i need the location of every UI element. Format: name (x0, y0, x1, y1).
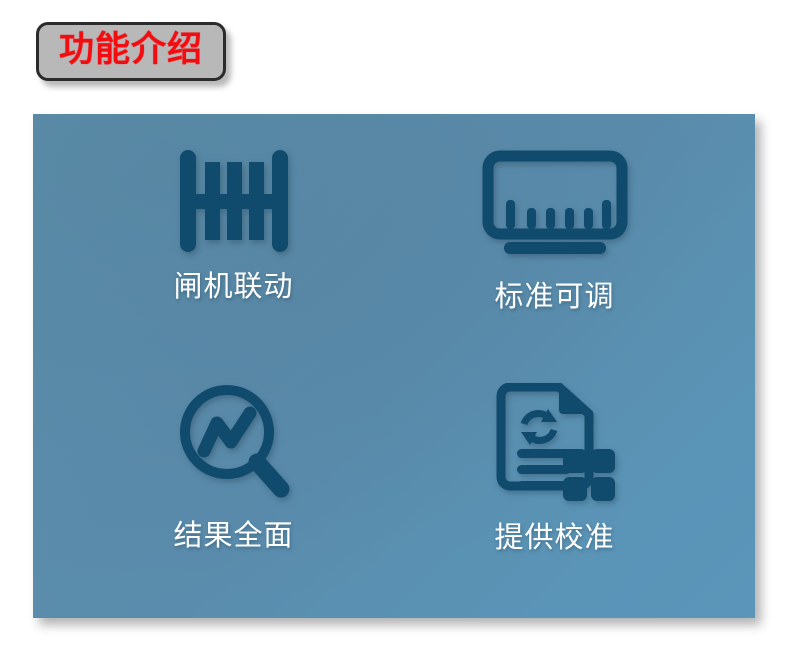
feature-grid: 闸机联动 (33, 114, 755, 618)
page-header: 功能介绍 (36, 22, 226, 81)
ruler-scale-icon (482, 150, 628, 256)
feature-item-adjustable-standard[interactable]: 标准可调 (394, 150, 715, 373)
feature-item-calibration-provided[interactable]: 提供校准 (394, 373, 715, 596)
feature-label-calibration-provided: 提供校准 (494, 523, 614, 552)
feature-item-gate-linkage[interactable]: 闸机联动 (73, 150, 394, 373)
document-sync-grid-icon (491, 383, 619, 503)
feature-panel: 闸机联动 (33, 114, 755, 618)
turnstile-gate-icon (178, 150, 290, 252)
feature-item-comprehensive-results[interactable]: 结果全面 (73, 373, 394, 596)
section-title-text: 功能介绍 (59, 32, 203, 69)
feature-label-adjustable-standard: 标准可调 (494, 282, 614, 311)
magnifier-chart-icon (178, 383, 290, 501)
feature-label-gate-linkage: 闸机联动 (173, 272, 293, 301)
section-title-badge: 功能介绍 (36, 22, 226, 81)
feature-label-comprehensive-results: 结果全面 (173, 521, 293, 550)
